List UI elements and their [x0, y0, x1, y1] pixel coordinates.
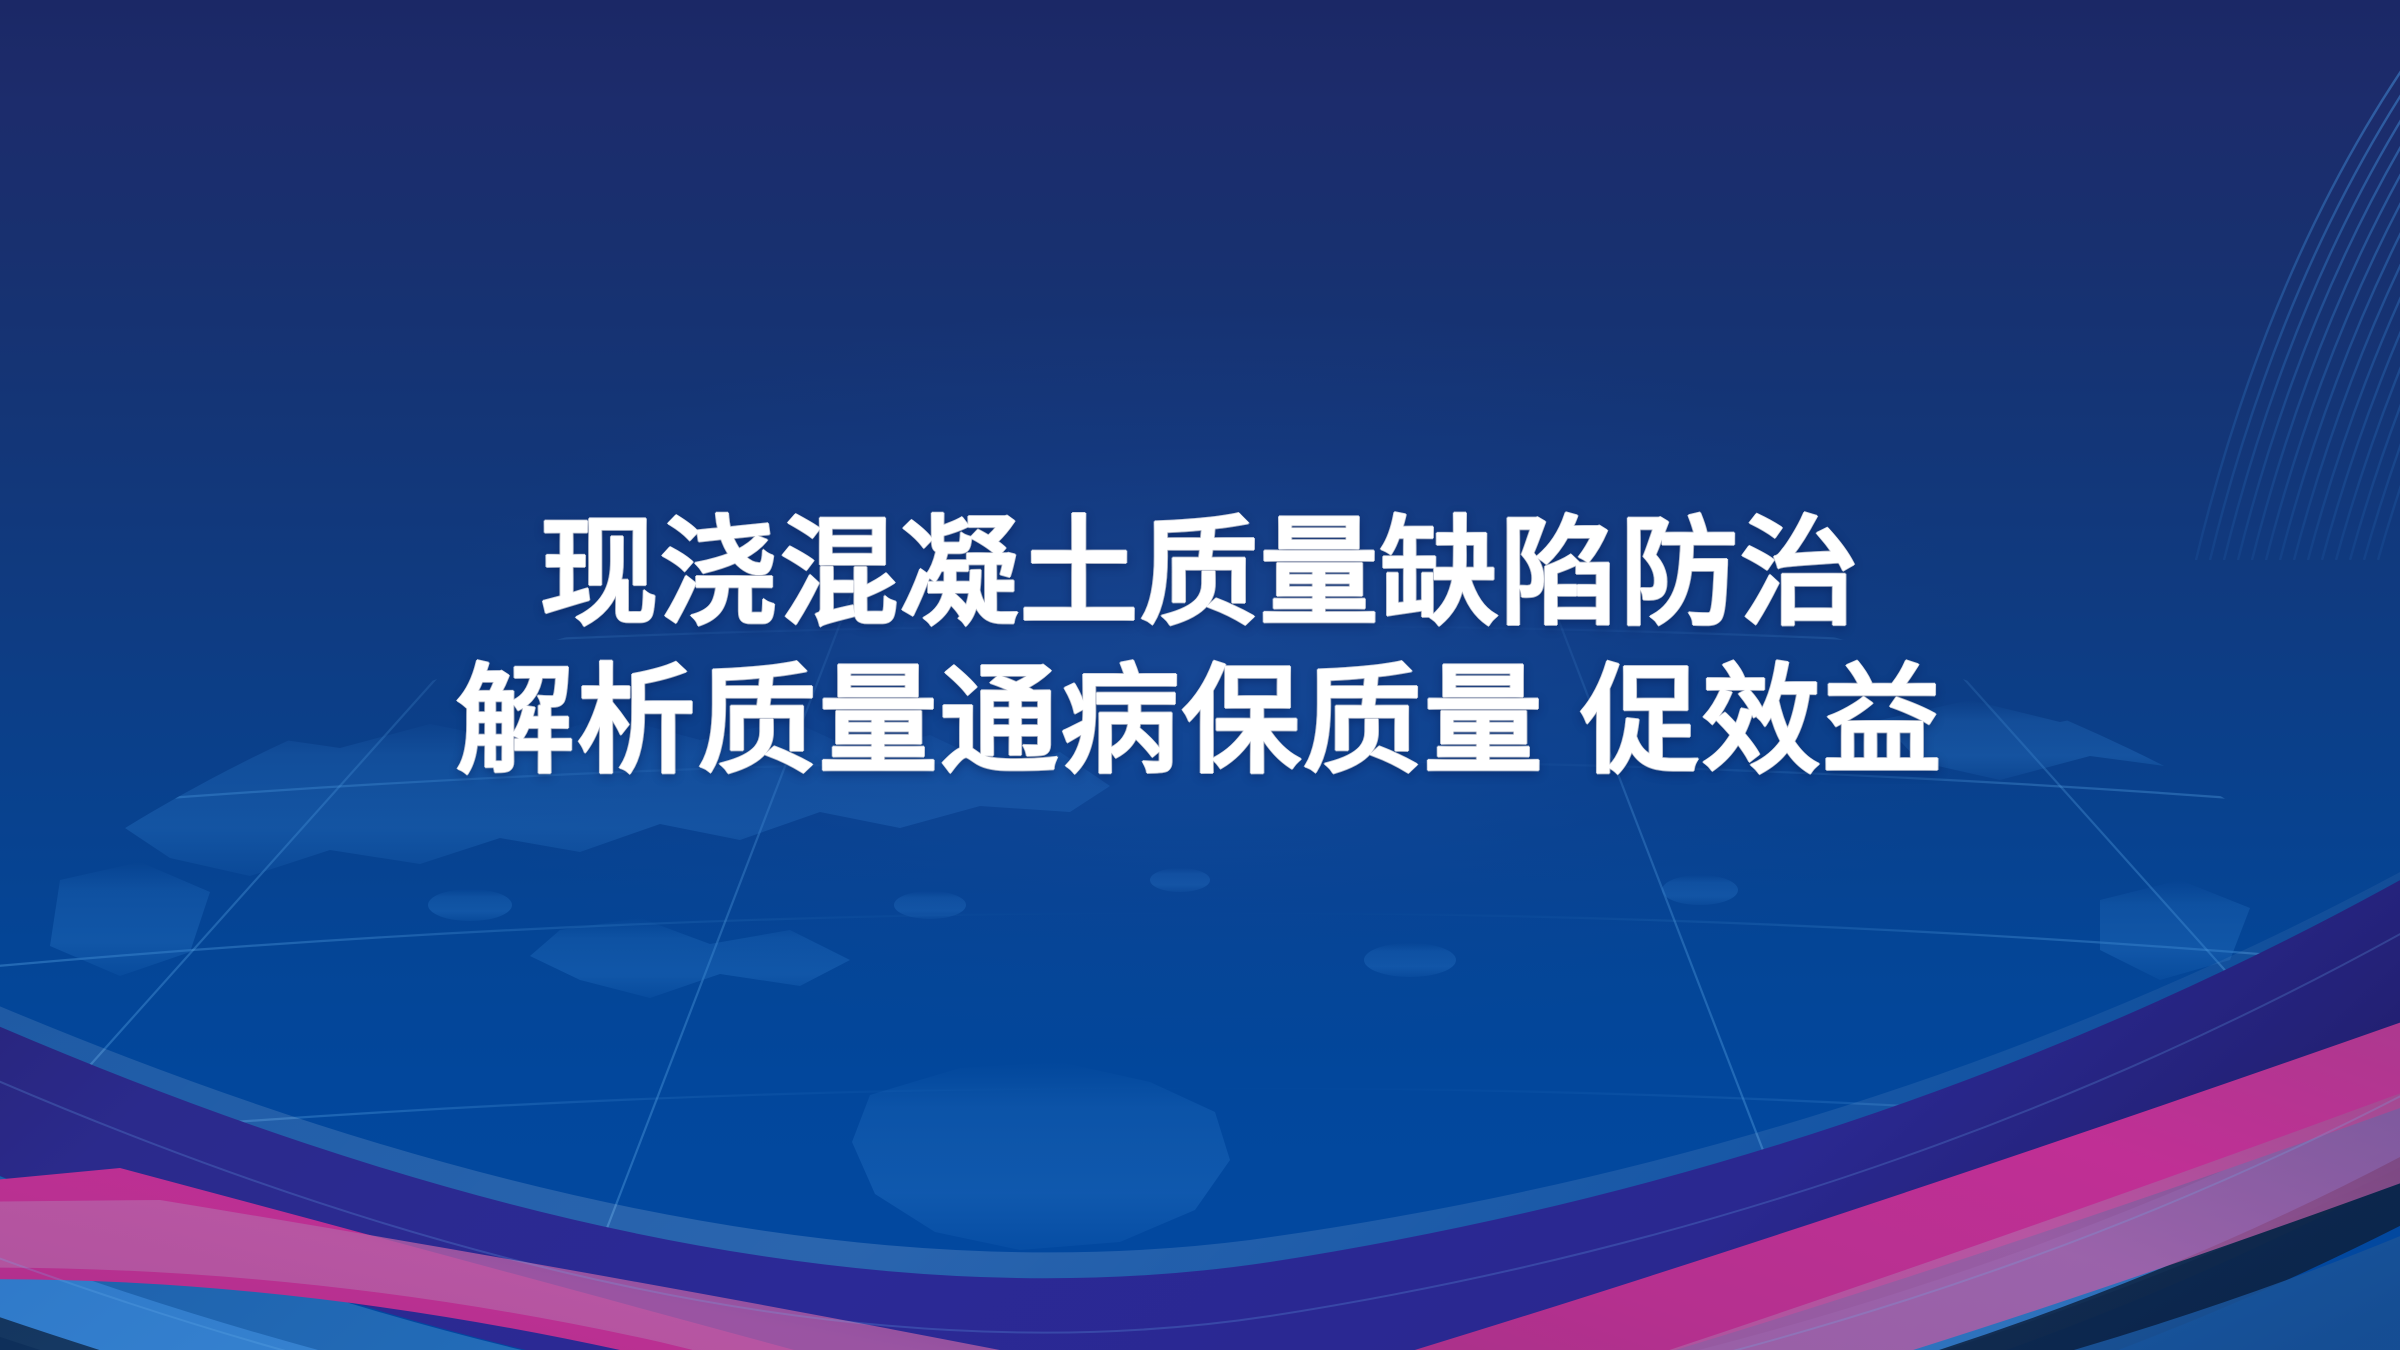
slide-title: 现浇混凝土质量缺陷防治 解析质量通病保质量 促效益: [0, 500, 2400, 796]
title-line-2: 解析质量通病保质量 促效益: [0, 648, 2400, 796]
title-line-1: 现浇混凝土质量缺陷防治: [0, 500, 2400, 648]
cover-slide: 现浇混凝土质量缺陷防治 解析质量通病保质量 促效益: [0, 0, 2400, 1350]
